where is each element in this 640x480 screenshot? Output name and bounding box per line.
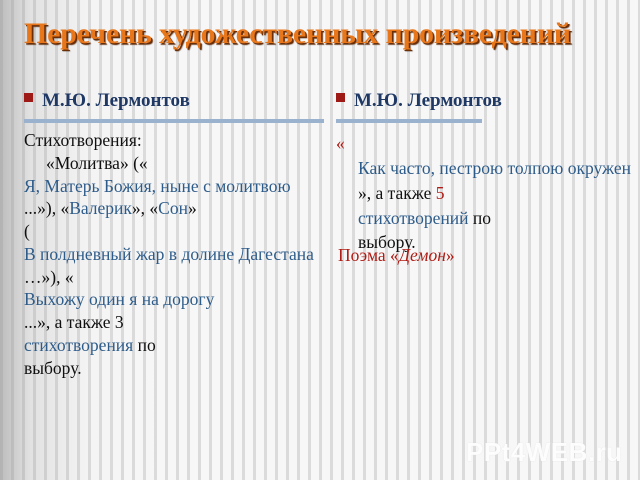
poem-suffix: » — [446, 245, 455, 265]
text-segment: по — [469, 208, 492, 228]
text-segment: «Молитва» (« — [46, 153, 148, 173]
text-line: стихотворения по — [24, 334, 324, 357]
right-heading-divider — [336, 119, 482, 123]
text-line: ...»), «Валерик», «Сон» — [24, 197, 324, 220]
text-segment: стихотворений — [358, 208, 469, 228]
text-line: В полдневный жар в долине Дагестана — [24, 243, 324, 266]
text-segment: выбору. — [24, 358, 82, 378]
page-title: Перечень художественных произведений — [24, 18, 624, 50]
text-segment: стихотворения — [24, 335, 133, 355]
text-line: ( — [24, 220, 324, 243]
text-segment: ...», а также 3 — [24, 312, 124, 332]
text-line: « — [336, 131, 636, 156]
poem-title-line: Поэма «Демон» — [338, 245, 455, 266]
text-segment: 5 — [436, 183, 445, 203]
text-segment: Валерик — [69, 198, 132, 218]
bullet-square-icon — [336, 93, 345, 102]
right-column-heading: М.Ю. Лермонтов — [354, 90, 502, 112]
left-column-heading-row: М.Ю. Лермонтов — [24, 90, 324, 117]
text-line: Я, Матерь Божия, ныне с молитвою — [24, 175, 324, 198]
text-segment: В полдневный жар в долине Дагестана — [24, 244, 314, 264]
text-line: …»), « — [24, 266, 324, 289]
text-line: Как часто, пестрою толпою окружен — [336, 156, 636, 181]
right-column-body: «Как часто, пестрою толпою окружен», а т… — [336, 131, 636, 255]
poem-emphasis: Демон — [399, 245, 446, 265]
presentation-slide: Перечень художественных произведений М.Ю… — [0, 0, 640, 480]
text-segment: », « — [132, 198, 158, 218]
watermark: PPt4WEB.ru — [466, 437, 623, 468]
text-segment: …»), « — [24, 267, 74, 287]
content-column-right: М.Ю. Лермонтов «Как часто, пестрою толпо… — [336, 90, 636, 255]
text-segment: Как часто, пестрою толпою окружен — [358, 158, 631, 178]
text-segment: по — [133, 335, 156, 355]
right-column-heading-row: М.Ю. Лермонтов — [336, 90, 636, 117]
text-segment: Стихотворения: — [24, 130, 142, 150]
text-segment: Выхожу один я на дорогу — [24, 289, 214, 309]
left-heading-divider — [24, 119, 324, 123]
text-line: стихотворений по — [336, 206, 636, 231]
text-segment: « — [336, 133, 345, 153]
text-segment: », а также — [358, 183, 436, 203]
text-segment: » — [188, 198, 197, 218]
text-line: Стихотворения: — [24, 129, 324, 152]
text-segment: ...»), « — [24, 198, 69, 218]
content-column-left: М.Ю. Лермонтов Стихотворения:«Молитва» (… — [24, 90, 324, 379]
text-line: ...», а также 3 — [24, 311, 324, 334]
text-segment: Я, Матерь Божия, ныне с молитвою — [24, 176, 291, 196]
text-line: Выхожу один я на дорогу — [24, 288, 324, 311]
poem-prefix: Поэма « — [338, 245, 399, 265]
text-segment: ( — [24, 221, 30, 241]
text-line: », а также 5 — [336, 181, 636, 206]
text-segment: Сон — [158, 198, 188, 218]
text-line: выбору. — [24, 357, 324, 380]
left-column-heading: М.Ю. Лермонтов — [42, 90, 190, 112]
left-column-body: Стихотворения:«Молитва» («Я, Матерь Божи… — [24, 129, 324, 379]
text-line: «Молитва» (« — [24, 152, 324, 175]
bullet-square-icon — [24, 93, 33, 102]
